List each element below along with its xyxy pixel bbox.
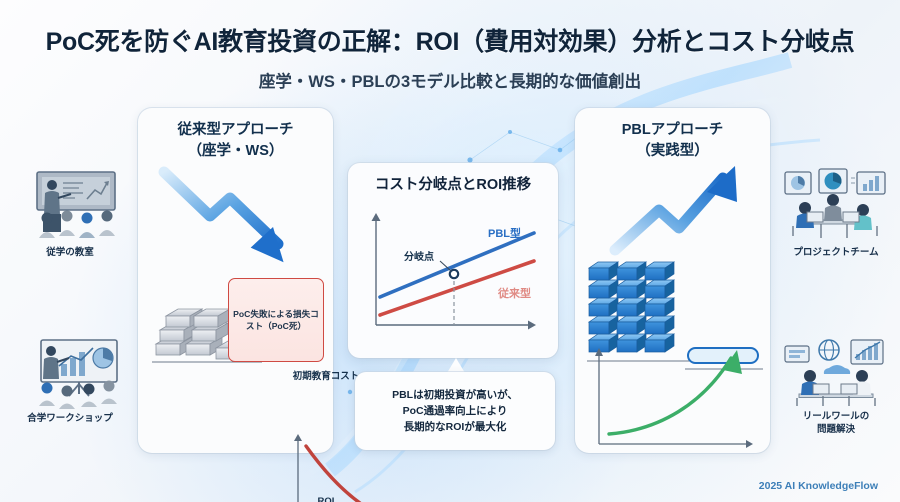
conventional-title-line1: 従来型アプローチ — [178, 122, 294, 138]
footer-credit: 2025 AI KnowledgeFlow — [759, 480, 878, 492]
left-roi-line1: ROI — [318, 496, 335, 502]
roi-breakeven-line-chart — [348, 203, 558, 353]
side-item-workshop: 合学ワークショップ — [6, 336, 134, 426]
cost-breakeven-chart-card: コスト分岐点とROI推移 PBL型 従来型 分岐点 — [348, 163, 558, 358]
callout-text: PBLは初期投資が高いが、 PoC通過率向上により 長期的なROIが最大化 — [392, 387, 518, 436]
real-world-caption: リールワールの 問題解決 — [772, 411, 900, 437]
callout-line1: PBLは初期投資が高いが、 — [392, 389, 518, 401]
classroom-illustration-icon — [11, 166, 129, 244]
declining-trend-arrow-icon — [138, 156, 333, 276]
side-item-classroom: 従学の教室 — [6, 166, 134, 260]
pbl-approach-card: PBLアプローチ （実践型） — [575, 108, 770, 453]
conventional-card-title: 従来型アプローチ （座学・WS） — [138, 108, 333, 162]
pbl-title-line1: PBLアプローチ — [622, 122, 724, 138]
workshop-illustration-icon — [11, 336, 129, 410]
right-roi-mini-chart — [585, 340, 765, 460]
classroom-caption: 従学の教室 — [6, 247, 134, 260]
left-roi-label: ROI （費用対効果） — [288, 496, 364, 502]
rising-trend-arrow-icon — [575, 158, 770, 273]
infographic-canvas: PoC死を防ぐAI教育投資の正解：ROI（費用対効果）分析とコスト分岐点 座学・… — [0, 0, 900, 502]
breakeven-point-label: 分岐点 — [404, 248, 434, 263]
callout-line2: PoC通過率向上により — [403, 405, 508, 417]
side-item-real-world: リールワールの 問題解決 — [772, 336, 900, 437]
workshop-caption: 合学ワークショップ — [6, 413, 134, 426]
pbl-insight-callout: PBLは初期投資が高いが、 PoC通過率向上により 長期的なROIが最大化 — [355, 372, 555, 450]
project-team-caption: プロジェクトチーム — [772, 247, 900, 260]
header: PoC死を防ぐAI教育投資の正解：ROI（費用対効果）分析とコスト分岐点 座学・… — [0, 0, 900, 92]
poc-failure-loss-box: PoC失敗による損失コスト（PoC死） — [228, 278, 324, 362]
poc-failure-loss-text: PoC失敗による損失コスト（PoC死） — [229, 308, 323, 333]
page-title: PoC死を防ぐAI教育投資の正解：ROI（費用対効果）分析とコスト分岐点 — [0, 0, 900, 58]
real-world-caption-line2: 問題解決 — [817, 424, 855, 435]
page-subtitle: 座学・WS・PBLの3モデル比較と長期的な価値創出 — [0, 58, 900, 92]
series-label-pbl: PBL型 — [488, 225, 521, 241]
real-world-problem-solving-illustration-icon — [777, 336, 895, 408]
side-item-project-team: プロジェクトチーム — [772, 166, 900, 260]
callout-line3: 長期的なROIが最大化 — [404, 421, 507, 433]
real-world-caption-line1: リールワールの — [803, 411, 870, 422]
chart-title: コスト分岐点とROI推移 — [348, 163, 558, 194]
pbl-card-title: PBLアプローチ （実践型） — [575, 108, 770, 162]
series-label-conventional: 従来型 — [498, 285, 531, 301]
callout-pointer — [447, 358, 465, 373]
project-team-illustration-icon — [777, 166, 895, 244]
